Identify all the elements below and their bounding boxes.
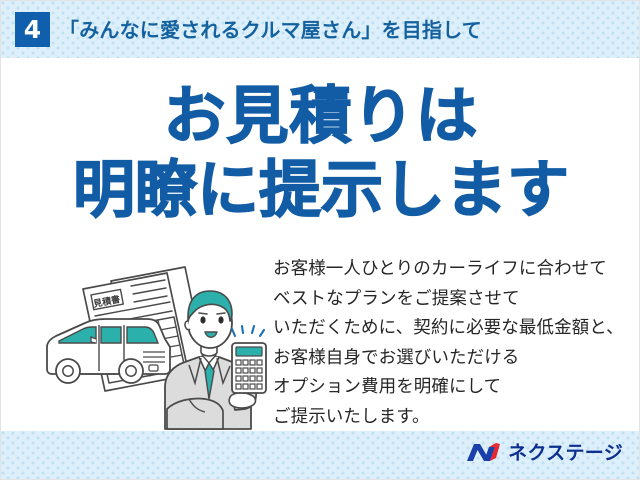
section-number-badge: 4 [15, 12, 50, 47]
van-illustration [47, 319, 170, 383]
headline-line-1: お見積りは [1, 79, 640, 153]
nextstage-n-logo-icon [467, 441, 501, 465]
brand-logo-text: ネクステージ [508, 439, 623, 467]
body-line: ベストなプランをご提案させて [273, 285, 635, 315]
promo-banner: 4 「みんなに愛されるクルマ屋さん」を目指して お見積りは 明瞭に提示します [0, 0, 640, 480]
body-line: オプション費用を明確にして [273, 373, 635, 403]
body-line: いただくために、契約に必要な最低金額と、 [273, 314, 635, 344]
brand-logo: ネクステージ [467, 439, 623, 467]
body-line: ご提示いたします。 [273, 403, 635, 433]
headline-block: お見積りは 明瞭に提示します [1, 79, 640, 227]
body-copy: お客様一人ひとりのカーライフに合わせて ベストなプランをご提案させて いただくた… [273, 255, 635, 432]
estimate-illustration: 見積書 [39, 259, 271, 431]
header-band: 4 「みんなに愛されるクルマ屋さん」を目指して [1, 1, 640, 58]
footer-band: ネクステージ [1, 431, 640, 479]
body-line: お客様一人ひとりのカーライフに合わせて [273, 255, 635, 285]
body-line: お客様自身でお選びいただける [273, 344, 635, 374]
headline-line-2: 明瞭に提示します [1, 153, 640, 227]
header-title: 「みんなに愛されるクルマ屋さん」を目指して [59, 14, 482, 46]
